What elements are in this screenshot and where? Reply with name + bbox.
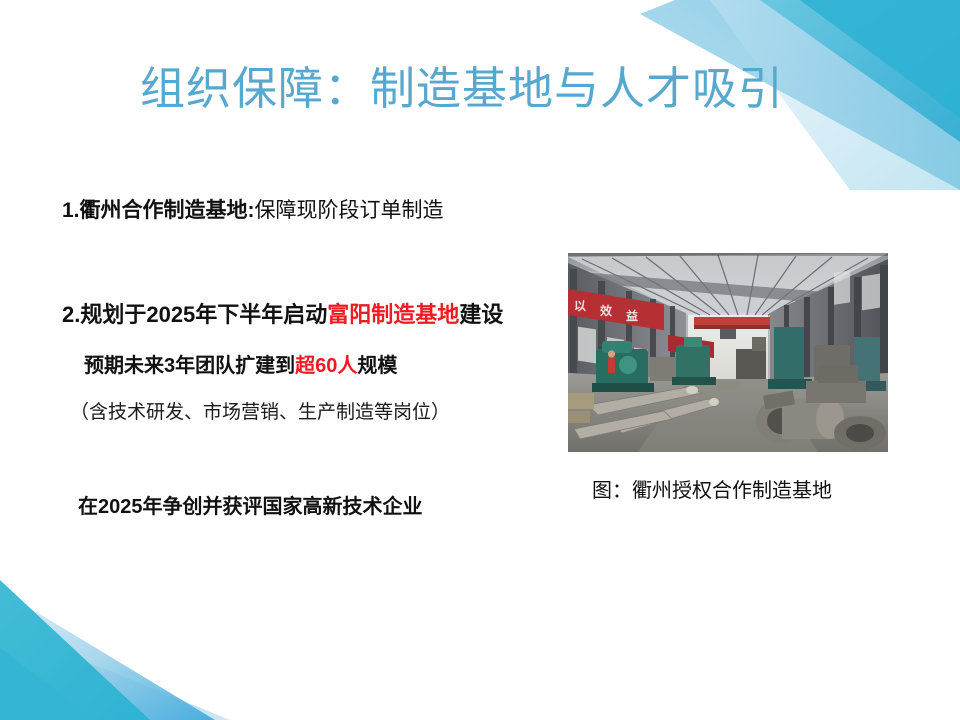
bullet-3-post: 规模 — [357, 355, 397, 377]
photo-caption: 图：衢州授权合作制造基地 — [592, 474, 832, 503]
bullet-line-3: 预期未来3年团队扩建到超60人规模 — [84, 349, 397, 378]
bullet-line-2: 2.规划于2025年下半年启动富阳制造基地建设 — [62, 297, 503, 329]
factory-photo: 以 效 益 — [568, 253, 888, 452]
bullet-3-highlight: 超60人 — [295, 355, 357, 377]
bullet-line-5: 在2025年争创并获评国家高新技术企业 — [78, 490, 423, 519]
factory-photo-illustration: 以 效 益 — [568, 253, 888, 452]
bullet-1-label: 1.衢州合作制造基地: — [62, 199, 255, 222]
presentation-slide: 组织保障：制造基地与人才吸引 1.衢州合作制造基地:保障现阶段订单制造 2.规划… — [0, 0, 960, 720]
bullet-line-1: 1.衢州合作制造基地:保障现阶段订单制造 — [62, 194, 444, 224]
bullet-line-4: （含技术研发、市场营销、生产制造等岗位） — [70, 397, 450, 424]
page-title: 组织保障：制造基地与人才吸引 — [140, 62, 784, 116]
bullet-1-text: 保障现阶段订单制造 — [255, 199, 444, 222]
bullet-2-post: 建设 — [459, 302, 503, 327]
decoration-bottom-left — [0, 530, 320, 720]
bullet-2-pre: 2.规划于2025年下半年启动 — [62, 302, 327, 327]
decoration-bottom-left-shapes — [0, 530, 320, 720]
bullet-2-highlight: 富阳制造基地 — [327, 302, 459, 327]
bullet-3-pre: 预期未来3年团队扩建到 — [84, 355, 295, 377]
